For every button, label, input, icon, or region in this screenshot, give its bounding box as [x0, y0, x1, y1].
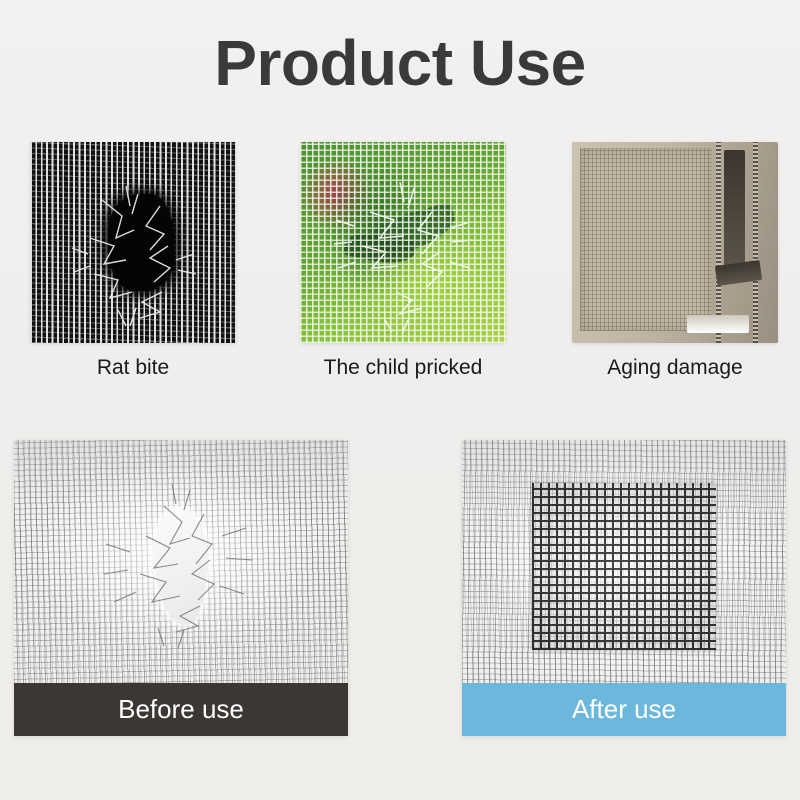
after-use-panel: After use — [462, 440, 786, 736]
tear-threads-icon — [14, 440, 348, 683]
damage-example-rat-bite: Rat bite — [30, 142, 236, 380]
damage-example-child-pricked: The child pricked — [300, 142, 506, 380]
repair-patch — [532, 483, 717, 651]
after-use-photo — [462, 440, 786, 683]
before-after-comparison: Before use After use — [0, 440, 800, 740]
frayed-threads-icon — [300, 142, 506, 343]
aging-damage-photo — [572, 142, 778, 343]
rat-bite-photo — [30, 142, 236, 343]
screen-spline-rail — [753, 142, 758, 343]
before-use-panel: Before use — [14, 440, 348, 736]
frayed-threads-icon — [30, 142, 236, 343]
before-use-label: Before use — [118, 694, 244, 725]
child-pricked-photo — [300, 142, 506, 343]
damage-example-aging-damage: Aging damage — [572, 142, 778, 380]
before-use-photo — [14, 440, 348, 683]
before-use-label-bar: Before use — [14, 683, 348, 736]
aged-screen-panel — [580, 148, 712, 331]
screen-spline-rail — [716, 142, 721, 343]
damage-examples-row: Rat bite — [0, 142, 800, 407]
damage-example-caption: The child pricked — [300, 355, 506, 380]
product-use-infographic: Product Use — [0, 0, 800, 800]
patch-shading-overlay — [532, 483, 717, 651]
after-use-label: After use — [572, 694, 676, 725]
dark-gap-shadow — [724, 150, 745, 275]
light-edge-highlight — [687, 315, 749, 333]
page-title: Product Use — [0, 26, 800, 100]
damage-example-caption: Rat bite — [30, 355, 236, 380]
after-use-label-bar: After use — [462, 683, 786, 736]
damage-example-caption: Aging damage — [572, 355, 778, 380]
